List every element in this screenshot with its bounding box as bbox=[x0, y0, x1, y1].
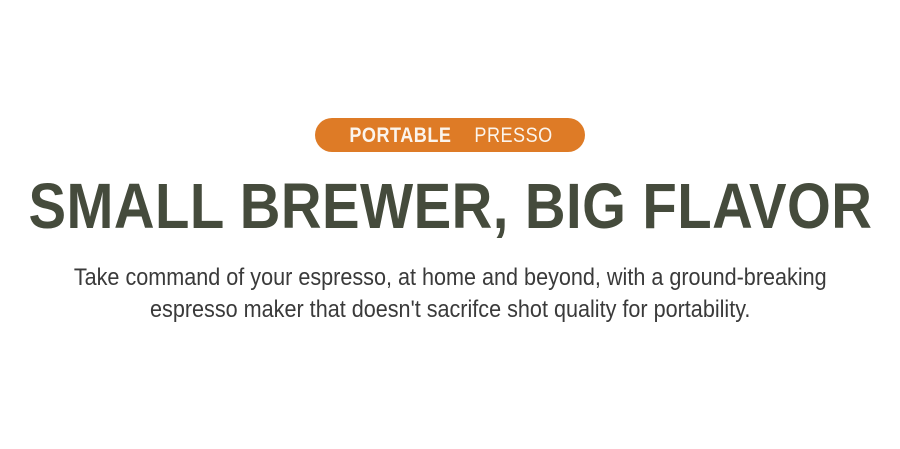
badge-light-label: PRESSO bbox=[474, 125, 552, 146]
hero-section: PORTABLE PRESSO SMALL BREWER, BIG FLAVOR… bbox=[0, 0, 900, 449]
hero-headline: SMALL BREWER, BIG FLAVOR bbox=[28, 152, 872, 238]
badge-strong-label: PORTABLE bbox=[349, 125, 451, 146]
subcopy-line-2: espresso maker that doesn't sacrifce sho… bbox=[74, 294, 827, 326]
hero-subcopy: Take command of your espresso, at home a… bbox=[74, 238, 827, 326]
eyebrow-badge: PORTABLE PRESSO bbox=[315, 118, 585, 152]
subcopy-line-1: Take command of your espresso, at home a… bbox=[74, 262, 827, 294]
